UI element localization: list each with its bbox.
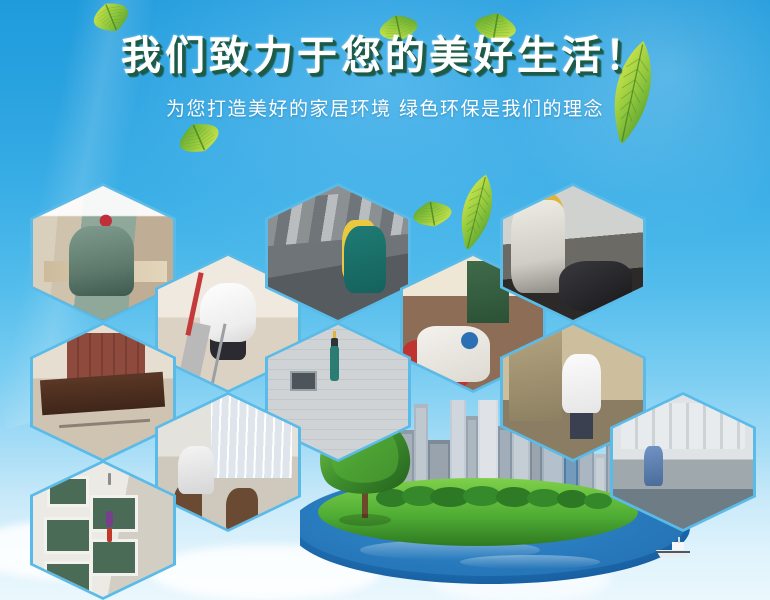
hex-photo-handrail-painting[interactable] xyxy=(30,322,176,462)
hex-photo-building-exterior-descent[interactable] xyxy=(30,460,176,600)
hex-photo-clip xyxy=(33,186,173,320)
photo-handrail-painting xyxy=(33,325,173,459)
page-subtitle: 为您打造美好的家居环境 绿色环保是我们的理念 xyxy=(0,94,770,121)
photo-stone-counter-worker xyxy=(33,186,173,320)
hex-photo-clip xyxy=(33,325,173,459)
hex-photo-clip xyxy=(33,463,173,597)
photo-building-exterior-descent xyxy=(33,463,173,597)
page-title: 我们致力于您的美好生活！ xyxy=(0,0,770,76)
hero-header: 我们致力于您的美好生活！ 为您打造美好的家居环境 绿色环保是我们的理念 xyxy=(0,0,770,121)
hex-photo-stone-counter-worker[interactable] xyxy=(30,183,176,323)
